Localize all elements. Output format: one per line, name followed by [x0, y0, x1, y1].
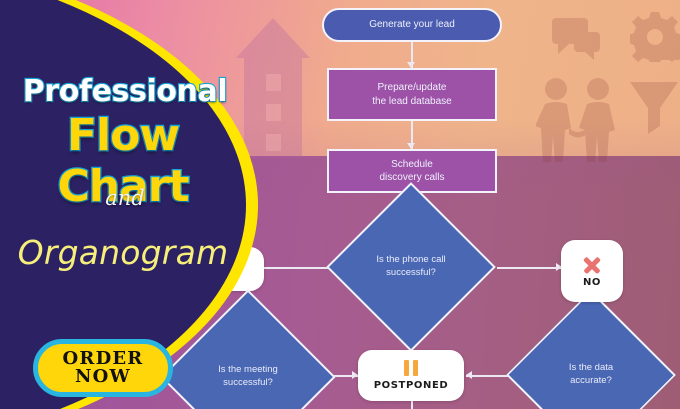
status-card-postponed-label: POSTPONED — [374, 380, 449, 391]
headline-organogram: Organogram — [6, 233, 240, 272]
node-is-the-data-accurate[interactable]: Is the data accurate? — [516, 315, 666, 409]
gear-icon — [630, 12, 680, 62]
node-label-line2: successful? — [386, 267, 436, 278]
handshake-icon — [536, 76, 620, 162]
node-label-line1: Prepare/update — [378, 82, 447, 93]
headline-professional: Professional — [10, 74, 240, 109]
house-roof — [236, 18, 310, 58]
node-generate-your-lead[interactable]: Generate your lead — [322, 8, 502, 42]
node-label-line2: accurate? — [570, 375, 612, 386]
node-label-line2: successful? — [223, 377, 273, 388]
house-window — [266, 134, 281, 151]
connector-phone-to-no — [497, 267, 561, 269]
diamond-label: Is the data accurate? — [516, 315, 666, 409]
house-window — [266, 74, 281, 91]
diamond-label: Is the phone call successful? — [351, 207, 471, 327]
connector-postponed-down — [411, 401, 413, 409]
pause-icon — [404, 360, 418, 376]
node-is-the-meeting-successful[interactable]: Is the meeting successful? — [186, 315, 310, 409]
arrowhead-left — [466, 371, 472, 379]
node-label-wrap: Schedule discovery calls — [379, 158, 444, 184]
order-now-label-line2: NOW — [75, 368, 131, 386]
node-label-line2: discovery calls — [379, 172, 444, 183]
node-label: Generate your lead — [369, 18, 455, 31]
funnel-icon — [628, 78, 680, 134]
node-label-line1: Schedule — [391, 159, 433, 170]
diamond-label: Is the meeting successful? — [186, 315, 310, 409]
node-is-the-phone-call-successful[interactable]: Is the phone call successful? — [351, 207, 471, 327]
house-window — [266, 104, 281, 121]
chat-bubbles-icon — [552, 18, 604, 68]
node-label-line1: Is the data — [569, 362, 613, 373]
cross-icon — [582, 255, 602, 275]
node-prepare-update-lead-database[interactable]: Prepare/update the lead database — [327, 68, 497, 121]
order-now-button[interactable]: ORDER NOW — [33, 339, 173, 397]
status-card-no[interactable]: NO — [561, 240, 623, 302]
status-card-postponed[interactable]: POSTPONED — [358, 350, 464, 401]
node-label-line1: Is the phone call — [376, 254, 445, 265]
promo-banner: Generate your lead Prepare/update the le… — [0, 0, 680, 409]
node-label-line1: Is the meeting — [218, 364, 278, 375]
node-label-wrap: Prepare/update the lead database — [372, 81, 452, 107]
headline-and: and — [10, 186, 240, 210]
status-card-no-label: NO — [583, 277, 601, 288]
house-silhouette — [236, 18, 310, 158]
node-label-line2: the lead database — [372, 96, 452, 107]
